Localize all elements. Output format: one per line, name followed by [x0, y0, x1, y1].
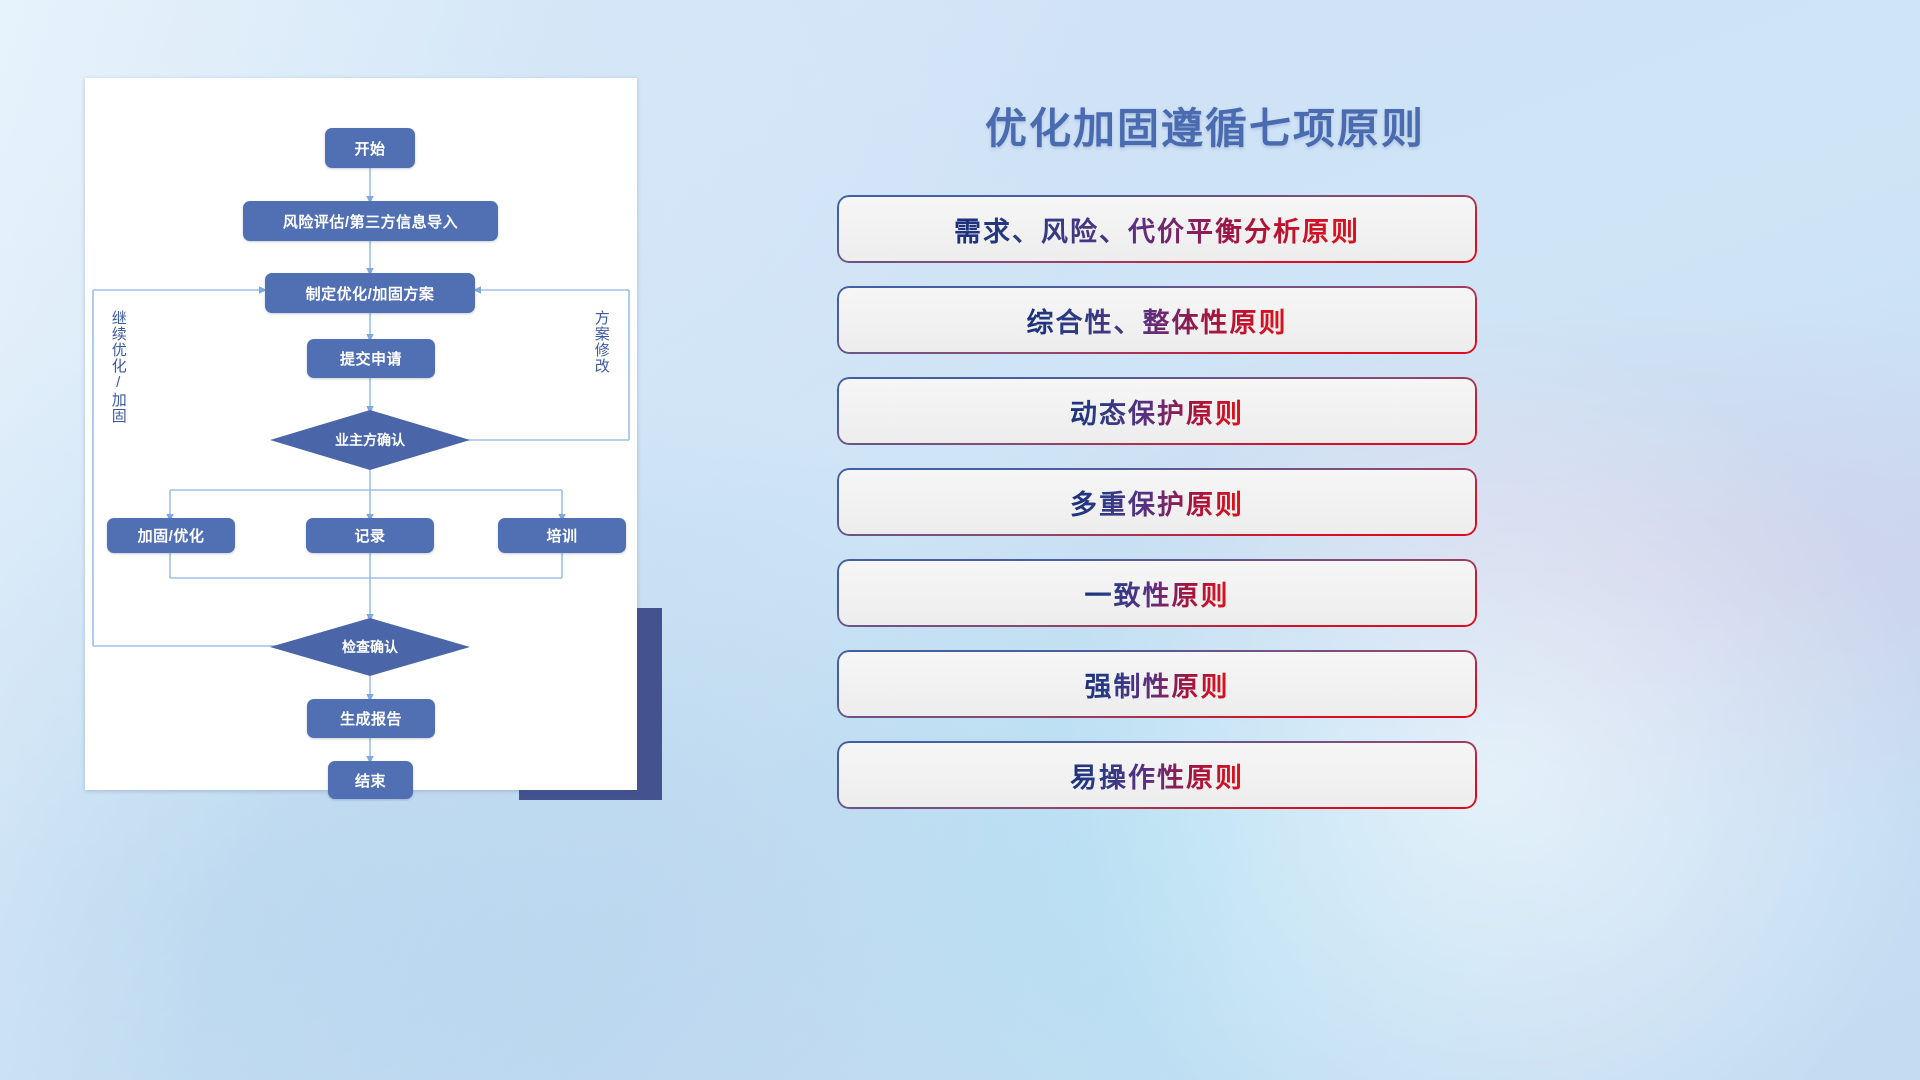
- principle-card[interactable]: 易操作性原则: [837, 741, 1477, 809]
- flow-node-end[interactable]: 结束: [328, 761, 413, 799]
- principle-label: 多重保护原则: [1070, 483, 1244, 522]
- flow-node-start[interactable]: 开始: [325, 128, 415, 168]
- principle-card-inner: 强制性原则: [839, 652, 1475, 716]
- flow-node-label: 检查确认: [342, 637, 398, 657]
- principle-card-inner: 多重保护原则: [839, 470, 1475, 534]
- flow-node-label: 提交申请: [340, 348, 402, 369]
- flow-node-plan[interactable]: 制定优化/加固方案: [265, 273, 475, 313]
- principle-label: 综合性、整体性原则: [1027, 301, 1288, 340]
- principle-card[interactable]: 强制性原则: [837, 650, 1477, 718]
- flow-node-submit-application[interactable]: 提交申请: [307, 339, 435, 378]
- principle-card[interactable]: 需求、风险、代价平衡分析原则: [837, 195, 1477, 263]
- flow-node-label: 加固/优化: [138, 525, 205, 546]
- principle-card-inner: 需求、风险、代价平衡分析原则: [839, 197, 1475, 261]
- principle-label: 易操作性原则: [1070, 756, 1244, 795]
- principle-card[interactable]: 多重保护原则: [837, 468, 1477, 536]
- flow-edge-label-plan-revision: 方案修改: [593, 310, 609, 374]
- principle-card-inner: 综合性、整体性原则: [839, 288, 1475, 352]
- flow-node-reinforce[interactable]: 加固/优化: [107, 518, 235, 553]
- flow-node-risk-assessment[interactable]: 风险评估/第三方信息导入: [243, 201, 498, 241]
- flow-node-label: 风险评估/第三方信息导入: [283, 211, 458, 232]
- page-title: 优化加固遵循七项原则: [945, 95, 1465, 156]
- flow-node-generate-report[interactable]: 生成报告: [307, 699, 435, 738]
- flow-node-label: 记录: [354, 525, 385, 546]
- principle-label: 强制性原则: [1085, 665, 1230, 704]
- flow-node-label: 制定优化/加固方案: [306, 283, 435, 304]
- principle-card-inner: 易操作性原则: [839, 743, 1475, 807]
- slide-background: 开始 风险评估/第三方信息导入 制定优化/加固方案 提交申请 业主方确认 加固/…: [0, 0, 1920, 1080]
- principles-panel: 优化加固遵循七项原则 需求、风险、代价平衡分析原则 综合性、整体性原则 动态保护…: [835, 80, 1485, 820]
- principle-card[interactable]: 动态保护原则: [837, 377, 1477, 445]
- principle-label: 动态保护原则: [1070, 392, 1244, 431]
- flow-node-label: 业主方确认: [335, 430, 405, 450]
- flow-node-record[interactable]: 记录: [306, 518, 434, 553]
- principle-label: 需求、风险、代价平衡分析原则: [954, 210, 1360, 249]
- flow-node-label: 生成报告: [340, 708, 402, 729]
- flow-node-label: 培训: [546, 525, 577, 546]
- principle-label: 一致性原则: [1085, 574, 1230, 613]
- flow-edge-label-continue-optimize: 继续优化/加固: [110, 310, 126, 424]
- flow-node-label: 开始: [354, 138, 385, 159]
- flowchart-panel: 开始 风险评估/第三方信息导入 制定优化/加固方案 提交申请 业主方确认 加固/…: [85, 78, 637, 790]
- principle-card[interactable]: 综合性、整体性原则: [837, 286, 1477, 354]
- flow-node-training[interactable]: 培训: [498, 518, 626, 553]
- principle-card-inner: 一致性原则: [839, 561, 1475, 625]
- principle-card[interactable]: 一致性原则: [837, 559, 1477, 627]
- flow-node-label: 结束: [355, 770, 386, 791]
- principle-card-inner: 动态保护原则: [839, 379, 1475, 443]
